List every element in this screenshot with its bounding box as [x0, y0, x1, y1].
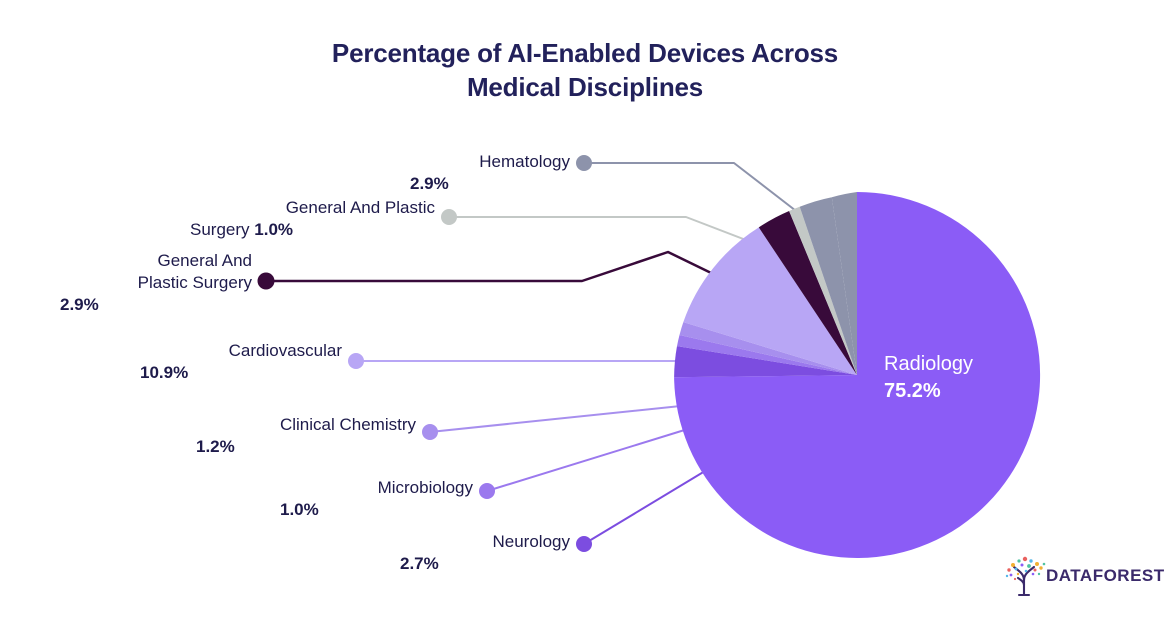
callout-dot-microbiology[interactable] [479, 483, 495, 499]
callout-dot-clinical-chemistry[interactable] [422, 424, 438, 440]
callout-label-gps1-name-line2: Surgery [190, 220, 250, 239]
callout-dot-cardiovascular[interactable] [348, 353, 364, 369]
callout-label-gps1-name-line1: General And Plastic [190, 197, 435, 219]
callout-label-hematology-name: Hematology [410, 151, 570, 173]
callout-label-general-plastic-surgery-2: General And Plastic Surgery 2.9% [60, 250, 252, 316]
callout-label-microbiology-name: Microbiology [280, 477, 473, 499]
callout-label-gps2-value: 2.9% [60, 294, 252, 316]
callout-label-gps1-value: 1.0% [254, 220, 293, 239]
callout-label-gps2-name-line2: Plastic Surgery [60, 272, 252, 294]
pie-label-radiology-value: 75.2% [884, 378, 973, 405]
callout-label-cardiovascular-name: Cardiovascular [140, 340, 342, 362]
callout-label-clinical-chemistry: Clinical Chemistry 1.2% [196, 414, 416, 458]
callout-label-neurology-value: 2.7% [400, 553, 570, 575]
callout-dot-hematology[interactable] [576, 155, 592, 171]
leader-line-microbiology [487, 424, 704, 491]
leader-line-hematology [584, 163, 800, 214]
leader-line-general-plastic-surgery-1 [449, 217, 772, 250]
chart-canvas: Percentage of AI-Enabled Devices Across … [0, 0, 1170, 629]
callout-label-hematology-value: 2.9% [410, 173, 570, 195]
pie-label-radiology: Radiology 75.2% [884, 351, 973, 405]
pie-slices-group [674, 192, 1040, 558]
callout-label-clinical-chemistry-value: 1.2% [196, 436, 416, 458]
callout-label-neurology: Neurology 2.7% [400, 531, 570, 575]
callout-dot-general-plastic-surgery-2[interactable] [258, 273, 275, 290]
callout-label-microbiology: Microbiology 1.0% [280, 477, 473, 521]
callout-label-clinical-chemistry-name: Clinical Chemistry [196, 414, 416, 436]
dataforest-logo[interactable]: DATAFOREST [1000, 552, 1150, 604]
leader-line-neurology [584, 462, 720, 544]
tree-logo-icon [1000, 552, 1048, 600]
callout-label-microbiology-value: 1.0% [280, 499, 473, 521]
callout-label-cardiovascular: Cardiovascular 10.9% [140, 340, 342, 384]
callout-label-neurology-name: Neurology [400, 531, 570, 553]
leader-line-clinical-chemistry [430, 404, 700, 432]
logo-wordmark: DATAFOREST [1046, 566, 1165, 586]
callout-label-general-plastic-surgery-1: General And Plastic Surgery 1.0% [190, 197, 435, 241]
callout-dot-neurology[interactable] [576, 536, 592, 552]
callout-label-cardiovascular-value: 10.9% [140, 362, 342, 384]
callout-dot-general-plastic-surgery-1[interactable] [441, 209, 457, 225]
pie-label-radiology-name: Radiology [884, 351, 973, 378]
leader-line-general-plastic-surgery-2 [266, 252, 742, 288]
callout-label-hematology: Hematology 2.9% [410, 151, 570, 195]
callout-label-gps2-name-line1: General And [60, 250, 252, 272]
